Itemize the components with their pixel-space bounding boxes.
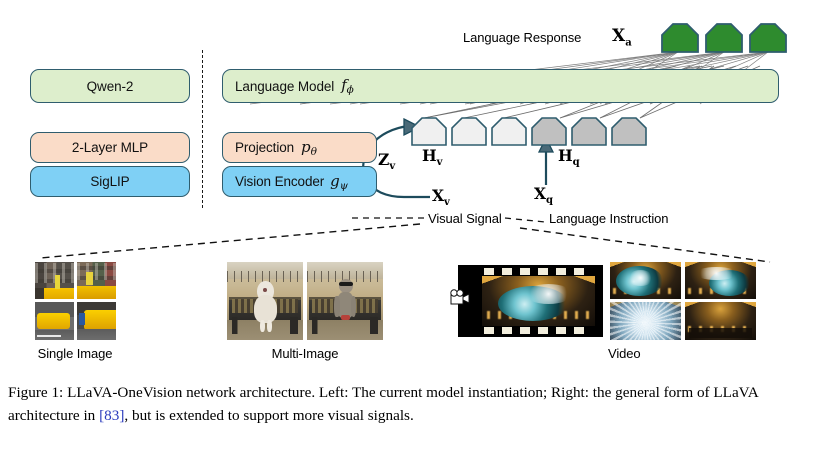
box-language-model[interactable]: Language Model fϕ bbox=[222, 69, 779, 103]
video-frame-1 bbox=[610, 262, 681, 299]
panel-divider bbox=[202, 50, 203, 208]
box-siglip[interactable]: SigLIP bbox=[30, 166, 190, 197]
caption-multi-image: Multi-Image bbox=[240, 346, 370, 361]
label-xa: Xa bbox=[612, 26, 632, 48]
projection-symbol: pθ bbox=[301, 138, 317, 158]
box-projection[interactable]: Projection pθ bbox=[222, 132, 377, 163]
caption-video: Video bbox=[608, 346, 698, 361]
movie-camera-icon bbox=[449, 289, 471, 307]
label-hq: Hq bbox=[558, 146, 580, 168]
label-visual-signal: Visual Signal bbox=[428, 211, 502, 226]
box-vision-encoder[interactable]: Vision Encoder gψ bbox=[222, 166, 377, 197]
multi-image-tile-dog bbox=[227, 262, 303, 340]
figure-caption: Figure 1: LLaVA-OneVision network archit… bbox=[8, 382, 812, 428]
label-language-response: Language Response bbox=[463, 30, 581, 45]
box-2layer-mlp[interactable]: 2-Layer MLP bbox=[30, 132, 190, 163]
panel-single-image[interactable] bbox=[35, 262, 116, 340]
film-perforations-top bbox=[458, 268, 603, 275]
box-language-model-label: Language Model bbox=[235, 79, 334, 94]
box-qwen2-label: Qwen-2 bbox=[87, 79, 134, 94]
label-zv: Zv bbox=[378, 150, 395, 172]
box-qwen2[interactable]: Qwen-2 bbox=[30, 69, 190, 103]
caption-text-after-cite: , but is extended to support more visual… bbox=[124, 407, 413, 424]
video-frame-4 bbox=[685, 302, 756, 340]
single-image-tile-3 bbox=[35, 302, 74, 340]
multi-image-tile-monkey bbox=[307, 262, 383, 340]
single-image-tile-4 bbox=[77, 302, 116, 340]
label-hv: Hv bbox=[422, 146, 442, 168]
single-image-tile-1 bbox=[35, 262, 74, 299]
visual-token-group bbox=[410, 116, 530, 146]
panel-multi-image[interactable] bbox=[227, 262, 383, 340]
box-projection-label: Projection bbox=[235, 140, 294, 155]
video-frame-2 bbox=[685, 262, 756, 299]
response-token-group bbox=[660, 22, 788, 54]
film-perforations-bottom bbox=[458, 327, 603, 334]
panel-video-frames[interactable] bbox=[610, 262, 756, 340]
box-vision-encoder-label: Vision Encoder bbox=[235, 174, 324, 189]
box-siglip-label: SigLIP bbox=[90, 174, 129, 189]
video-frame-3 bbox=[610, 302, 681, 340]
video-film-strip[interactable] bbox=[458, 265, 603, 337]
label-language-instruction: Language Instruction bbox=[549, 211, 668, 226]
single-image-tile-2 bbox=[77, 262, 116, 299]
label-xv: Xv bbox=[432, 186, 450, 208]
figure-architecture-diagram: Qwen-2 2-Layer MLP SigLIP Language Model… bbox=[0, 0, 820, 375]
box-2layer-mlp-label: 2-Layer MLP bbox=[72, 140, 148, 155]
label-xq: Xq bbox=[534, 184, 553, 206]
caption-single-image: Single Image bbox=[20, 346, 130, 361]
film-frame-image bbox=[482, 276, 595, 326]
caption-prefix: Figure 1: bbox=[8, 384, 67, 401]
vision-encoder-symbol: gψ bbox=[330, 172, 348, 192]
language-model-symbol: fϕ bbox=[341, 76, 354, 96]
caption-citation-link[interactable]: [83] bbox=[99, 407, 124, 424]
query-token-group bbox=[530, 116, 656, 146]
